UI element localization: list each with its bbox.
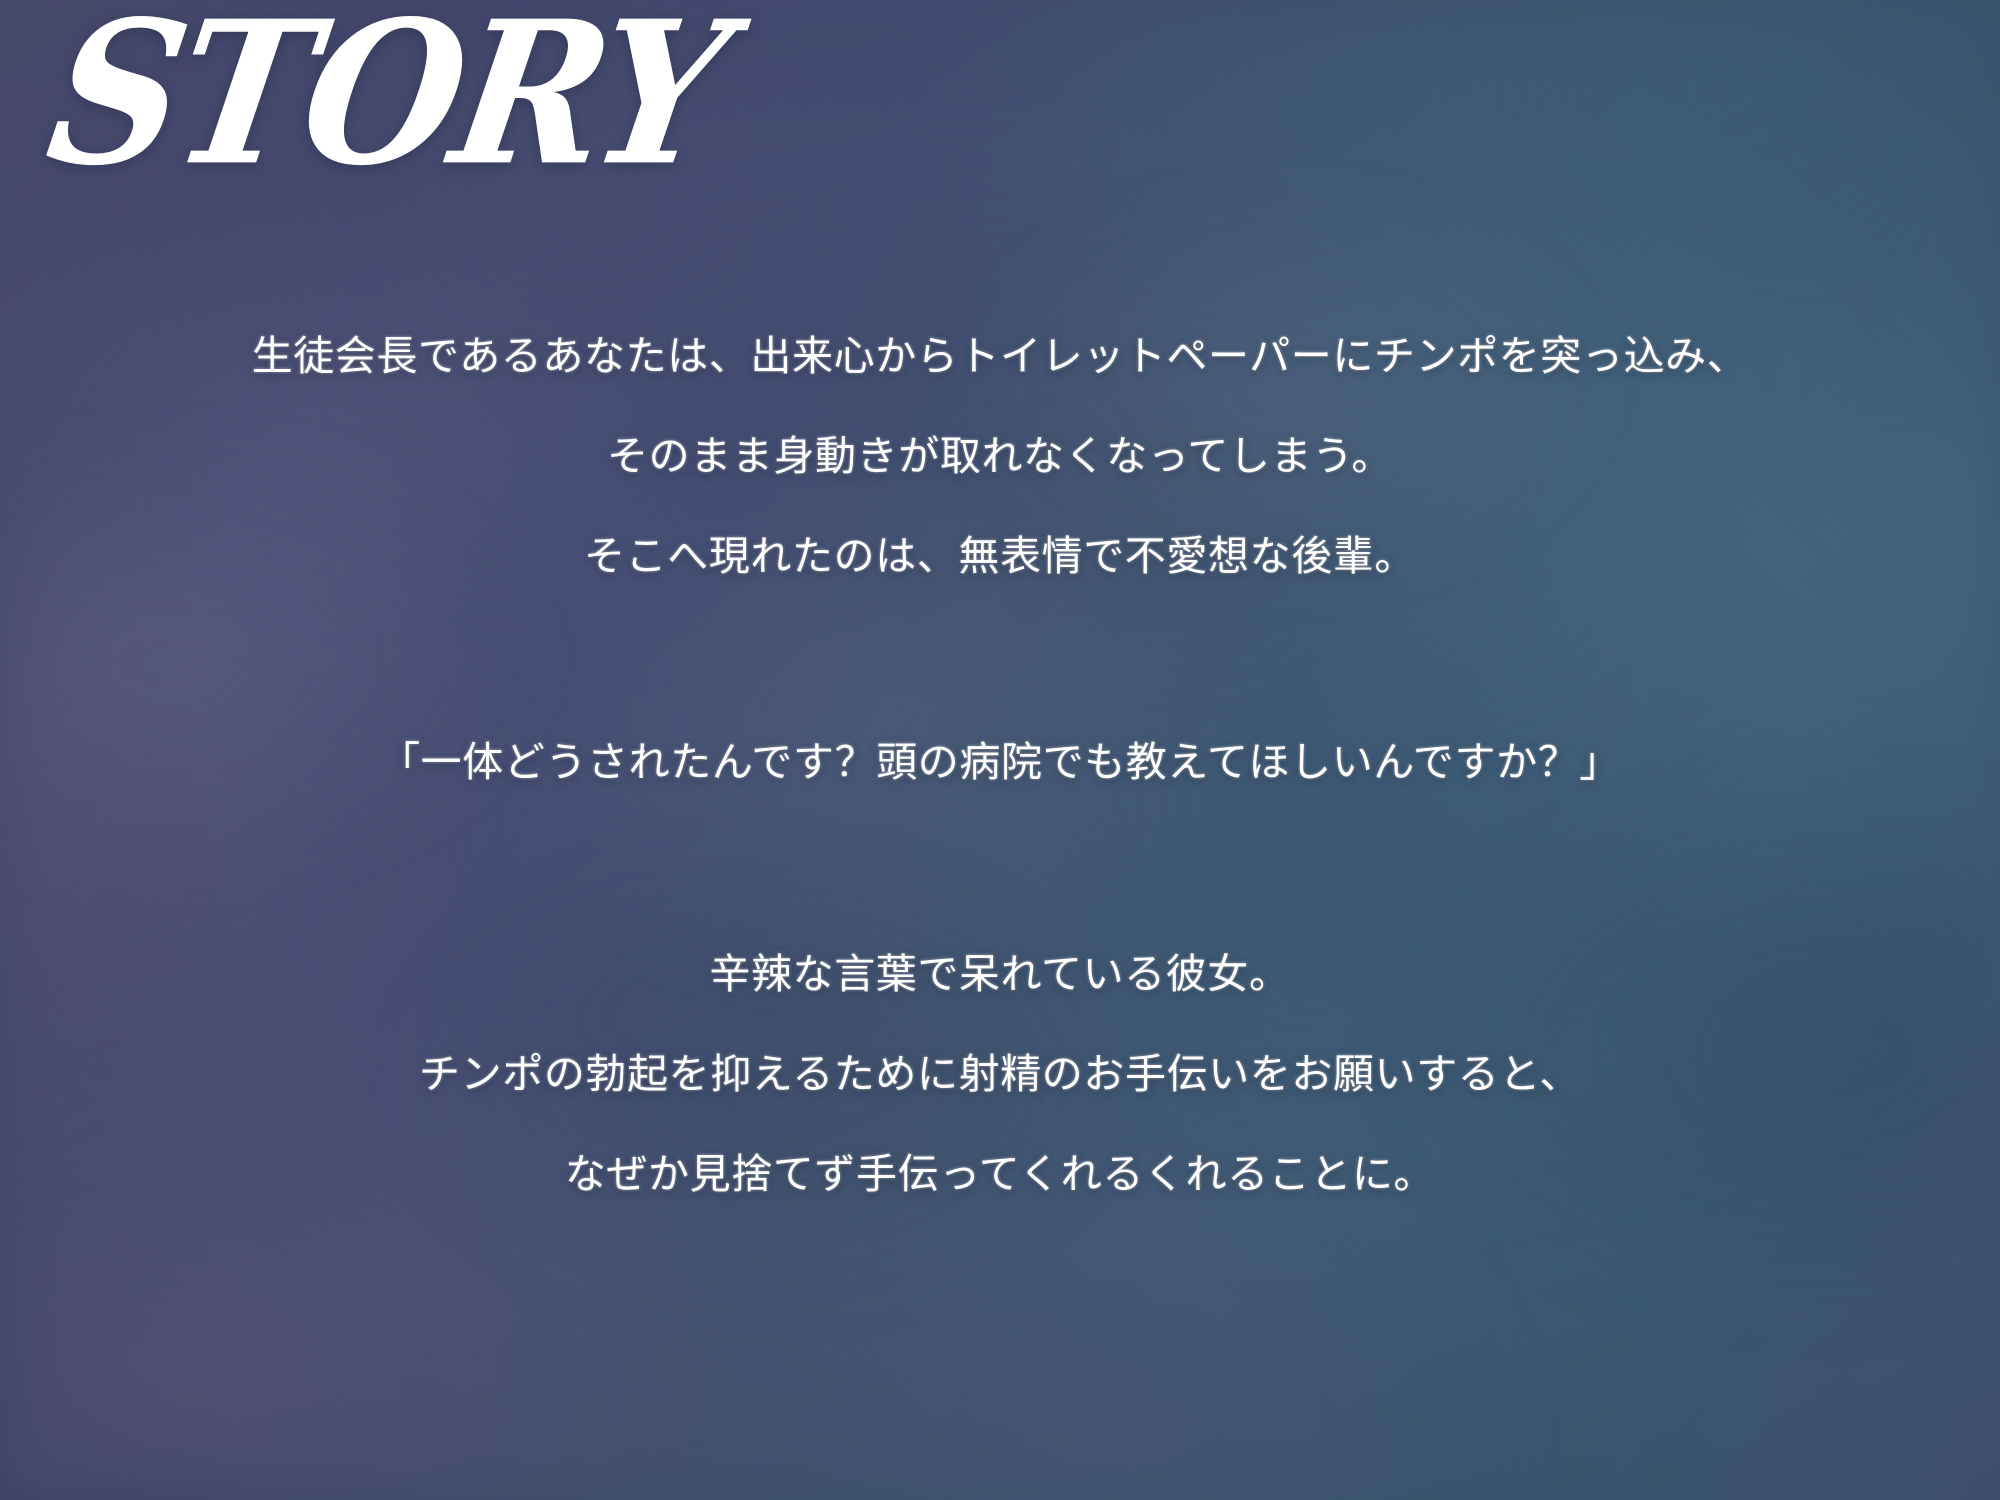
story-paragraph-intro: 生徒会長であるあなたは、出来心からトイレットペーパーにチンポを突っ込み、 そのま…	[0, 306, 2000, 606]
story-line: そこへ現れたのは、無表情で不愛想な後輩。	[0, 506, 2000, 606]
story-line: 生徒会長であるあなたは、出来心からトイレットペーパーにチンポを突っ込み、	[0, 306, 2000, 406]
story-paragraph-outro: 辛辣な言葉で呆れている彼女。 チンポの勃起を抑えるために射精のお手伝いをお願いす…	[0, 924, 2000, 1224]
story-paragraph-dialogue: 「一体どうされたんです？頭の病院でも教えてほしいんですか？」	[0, 712, 2000, 812]
page-title-block: STORY	[38, 6, 724, 192]
story-line: 辛辣な言葉で呆れている彼女。	[0, 924, 2000, 1024]
story-dialogue-line: 「一体どうされたんです？頭の病院でも教えてほしいんですか？」	[0, 712, 2000, 812]
story-line: チンポの勃起を抑えるために射精のお手伝いをお願いすると、	[0, 1024, 2000, 1124]
paragraph-spacer	[0, 812, 2000, 924]
paragraph-spacer	[0, 606, 2000, 712]
story-line: そのまま身動きが取れなくなってしまう。	[0, 406, 2000, 506]
story-text-body: 生徒会長であるあなたは、出来心からトイレットペーパーにチンポを突っ込み、 そのま…	[0, 306, 2000, 1224]
story-page: STORY 生徒会長であるあなたは、出来心からトイレットペーパーにチンポを突っ込…	[0, 0, 2000, 1500]
page-title: STORY	[38, 0, 735, 192]
story-line: なぜか見捨てず手伝ってくれるくれることに。	[0, 1124, 2000, 1224]
